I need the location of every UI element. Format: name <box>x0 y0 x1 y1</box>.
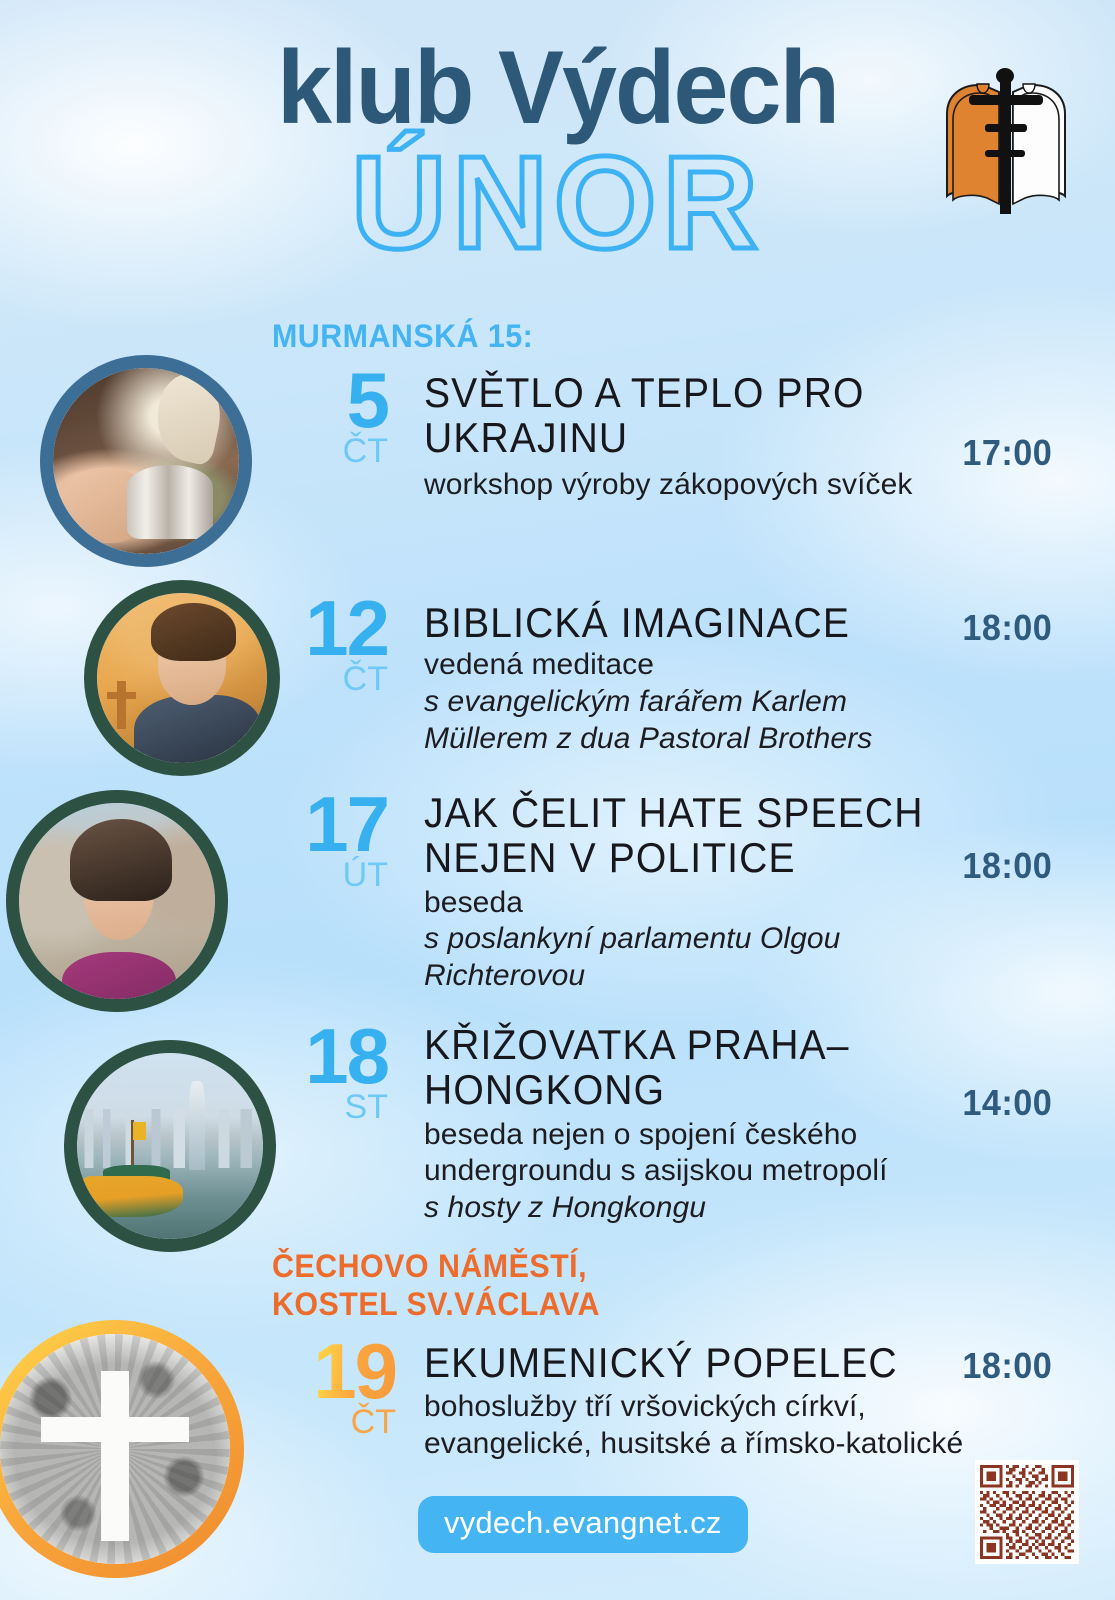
event-body: KŘIŽOVATKA PRAHA–HONGKONG beseda nejen o… <box>424 1022 964 1227</box>
event-date-block: 5 ČT <box>292 366 388 467</box>
event-description: vedená meditace <box>424 647 964 684</box>
event-body: SVĚTLO A TEPLO PRO UKRAJINU workshop výr… <box>424 370 944 503</box>
section-heading-line1: ČECHOVO NÁMĚSTÍ, <box>272 1248 600 1286</box>
section-heading-cechovo: ČECHOVO NÁMĚSTÍ, KOSTEL SV.VÁCLAVA <box>272 1248 600 1324</box>
event-time: 17:00 <box>962 432 1052 474</box>
event-body: BIBLICKÁ IMAGINACE vedená meditace s eva… <box>424 600 964 757</box>
qr-code[interactable] <box>975 1460 1079 1564</box>
page-title: klub Výdech <box>28 36 1087 140</box>
event-description: beseda nejen o spojení českého undergrou… <box>424 1117 964 1190</box>
event-day-number: 5 <box>292 366 388 435</box>
event-day-number: 12 <box>268 594 388 663</box>
event-body: JAK ČELIT HATE SPEECH NEJEN V POLITICE b… <box>424 790 984 995</box>
photo-hongkong-harbour <box>64 1040 276 1252</box>
event-day-number: 18 <box>268 1022 388 1091</box>
event-time: 18:00 <box>962 1345 1052 1387</box>
event-date-block: 19 ČT <box>288 1337 396 1438</box>
event-date-block: 18 ST <box>268 1022 388 1123</box>
event-title: EKUMENICKÝ POPELEC <box>424 1340 926 1385</box>
event-title: SVĚTLO A TEPLO PRO UKRAJINU <box>424 370 908 461</box>
photo-trench-candles <box>40 355 252 567</box>
church-logo-icon <box>933 62 1079 222</box>
photo-karel-muller <box>84 580 280 776</box>
event-description-guest: s poslankyní parlamentu Olgou Richterovo… <box>424 921 984 994</box>
event-description: beseda <box>424 885 984 922</box>
event-title: JAK ČELIT HATE SPEECH NEJEN V POLITICE <box>424 790 945 881</box>
event-day-number: 19 <box>288 1337 396 1406</box>
event-time: 14:00 <box>962 1082 1052 1124</box>
event-date-block: 12 ČT <box>268 594 388 695</box>
event-day-number: 17 <box>268 790 388 859</box>
event-time: 18:00 <box>962 845 1052 887</box>
website-url-badge[interactable]: vydech.evangnet.cz <box>418 1496 748 1553</box>
photo-olga-richterova <box>6 790 228 1012</box>
poster-root: klub Výdech ÚNOR <box>0 0 1115 1600</box>
section-heading-line2: KOSTEL SV.VÁCLAVA <box>272 1286 600 1324</box>
section-heading-murmanska: MURMANSKÁ 15: <box>272 318 533 356</box>
event-title: BIBLICKÁ IMAGINACE <box>424 600 926 645</box>
event-body: EKUMENICKÝ POPELEC bohoslužby tří vršovi… <box>424 1340 964 1463</box>
photo-ash-cross <box>0 1320 244 1578</box>
event-time: 18:00 <box>962 607 1052 649</box>
event-title: KŘIŽOVATKA PRAHA–HONGKONG <box>424 1022 926 1113</box>
event-description-guest: s evangelickým farářem Karlem Müllerem z… <box>424 684 964 757</box>
event-description: workshop výroby zákopových svíček <box>424 467 944 504</box>
event-description: bohoslužby tří vršovických církví, evang… <box>424 1389 964 1462</box>
event-weekday: ČT <box>292 437 388 467</box>
event-description-guest: s hosty z Hongkongu <box>424 1190 964 1227</box>
event-date-block: 17 ÚT <box>268 790 388 891</box>
